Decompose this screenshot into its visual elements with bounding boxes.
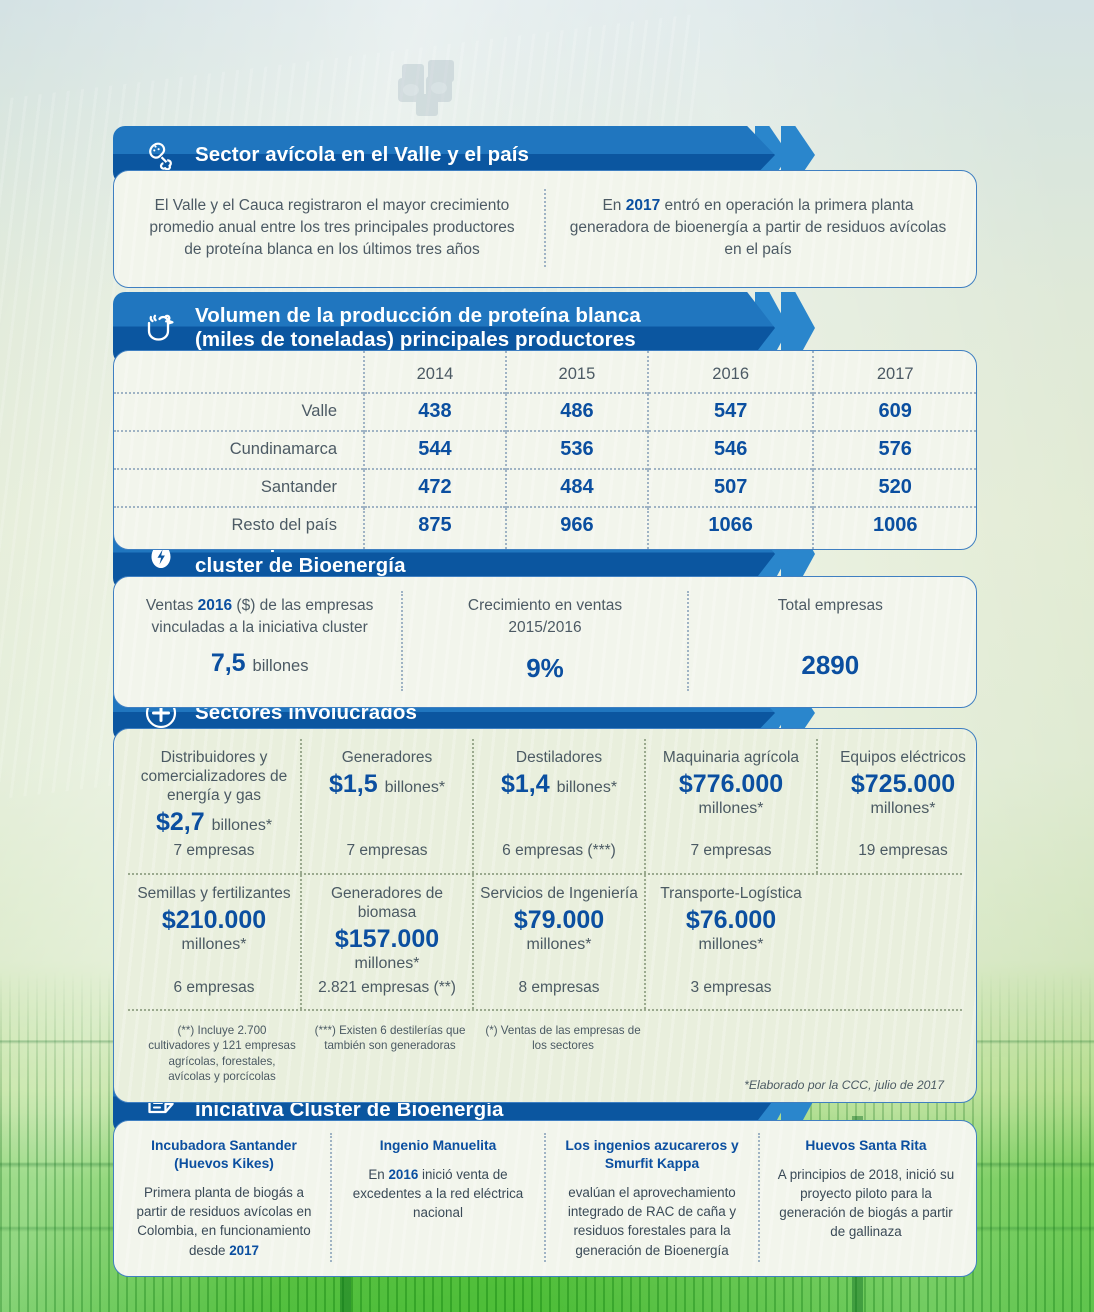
footnote: (**) Incluye 2.700 cultivadores y 121 em… <box>138 1017 306 1093</box>
sector-label: Generadores <box>342 749 432 768</box>
row-label: Resto del país <box>114 507 364 549</box>
sector-cell-empty <box>816 875 977 1009</box>
stat-crecimiento-value: 9% <box>419 650 670 686</box>
project-title: Ingenio Manuelita <box>346 1137 530 1155</box>
sector-label: Generadores de biomasa <box>308 885 466 923</box>
sector-companies: 19 empresas <box>858 836 948 861</box>
text-pre: evalúan el aprovechamiento integrado de … <box>568 1185 736 1257</box>
th-2016: 2016 <box>648 351 814 393</box>
stat-total-label: Total empresas <box>705 595 956 617</box>
sector-cell: Generadores $1,5 billones* 7 empresas <box>300 739 472 873</box>
sector-unit: millones* <box>699 935 764 954</box>
sector-companies: 7 empresas <box>347 836 428 861</box>
table-row: Resto del país 875 966 1066 1006 <box>114 507 976 549</box>
project-text: Primera planta de biogás a partir de res… <box>132 1183 316 1259</box>
source-credit: *Elaborado por la CCC, julio de 2017 <box>744 1078 944 1092</box>
section-body-card: El Valle y el Cauca registraron el mayor… <box>113 170 977 288</box>
amount-value: $2,7 <box>156 808 205 836</box>
cell-2015: 536 <box>506 431 648 469</box>
volume-table-wrap: 2014 2015 2016 2017 Valle 438 486 547 60 <box>114 351 976 549</box>
sector-unit: millones* <box>182 935 247 954</box>
sector-amount: $79.000 <box>514 906 604 935</box>
row-label: Valle <box>114 393 364 431</box>
table-header-row: 2014 2015 2016 2017 <box>114 351 976 393</box>
table-row: Cundinamarca 544 536 546 576 <box>114 431 976 469</box>
project-title: Huevos Santa Rita <box>774 1137 958 1155</box>
amount-unit: billones* <box>385 779 445 796</box>
table-row: Valle 438 486 547 609 <box>114 393 976 431</box>
chicken-drumstick-icon <box>141 135 181 175</box>
sector-label: Destiladores <box>516 749 602 768</box>
sector-companies: 7 empresas <box>174 836 255 861</box>
cell-2016: 507 <box>648 469 814 507</box>
cell-2016: 1066 <box>648 507 814 549</box>
stat-ventas: Ventas 2016 ($) de las empresas vinculad… <box>118 591 401 691</box>
amount-unit: billones* <box>212 817 272 834</box>
project-card: Incubadora Santander (Huevos Kikes) Prim… <box>118 1133 330 1262</box>
amount-value: $1,4 <box>501 770 550 798</box>
hen-icon <box>141 308 181 348</box>
amount-unit: billones* <box>557 779 617 796</box>
project-card: Huevos Santa Rita A principios de 2018, … <box>758 1133 972 1262</box>
red-empresarial-stats: Ventas 2016 ($) de las empresas vinculad… <box>114 577 976 707</box>
infographic-page: Sector avícola en el Valle y el país El … <box>0 0 1094 1312</box>
sector-unit: millones* <box>355 954 420 973</box>
project-title: Los ingenios azucareros y Smurfit Kappa <box>560 1137 744 1173</box>
sector-cell: Equipos eléctricos $725.000 millones* 19… <box>816 739 977 873</box>
sector-amount: $2,7 billones* <box>156 808 272 837</box>
sectores-row-1: Distribuidores y comercializadores de en… <box>128 739 962 875</box>
cell-2014: 438 <box>364 393 506 431</box>
row-label: Santander <box>114 469 364 507</box>
unit: billones <box>253 657 309 675</box>
sector-cell: Distribuidores y comercializadores de en… <box>128 739 300 873</box>
section-volumen-produccion: Volumen de la producción de proteína bla… <box>113 292 977 550</box>
cell-2014: 544 <box>364 431 506 469</box>
sector-amount: $725.000 <box>851 770 955 799</box>
sectores-grid: Distribuidores y comercializadores de en… <box>114 729 976 1102</box>
project-text: En 2016 inició venta de excedentes a la … <box>346 1165 530 1222</box>
cell-2016: 547 <box>648 393 814 431</box>
sector-label: Distribuidores y comercializadores de en… <box>134 749 294 806</box>
highlight-year: 2017 <box>626 197 660 214</box>
sector-label: Servicios de Ingeniería <box>480 885 638 904</box>
section-body-card: 2014 2015 2016 2017 Valle 438 486 547 60 <box>113 350 977 550</box>
sector-amount: $210.000 <box>162 906 266 935</box>
sector-amount: $1,4 billones* <box>501 770 617 799</box>
sector-amount: $157.000 <box>335 925 439 954</box>
sector-label: Maquinaria agrícola <box>663 749 799 768</box>
table-head: 2014 2015 2016 2017 <box>114 351 976 393</box>
sector-label: Equipos eléctricos <box>840 749 966 768</box>
label-pre: Ventas <box>146 597 198 614</box>
section-body-card: Distribuidores y comercializadores de en… <box>113 728 977 1103</box>
project-text: evalúan el aprovechamiento integrado de … <box>560 1183 744 1259</box>
th-2014: 2014 <box>364 351 506 393</box>
sector-cell: Servicios de Ingeniería $79.000 millones… <box>472 875 644 1009</box>
sector-companies: 8 empresas <box>519 973 600 998</box>
text-pre: Primera planta de biogás a partir de res… <box>137 1185 312 1257</box>
project-title: Incubadora Santander (Huevos Kikes) <box>132 1137 316 1173</box>
project-card: Los ingenios azucareros y Smurfit Kappa … <box>544 1133 758 1262</box>
stat-total-value: 2890 <box>705 647 956 683</box>
highlight-year: 2017 <box>229 1243 259 1258</box>
sector-unit: millones* <box>699 799 764 818</box>
section-title: Volumen de la producción de proteína bla… <box>195 304 641 352</box>
stat-crecimiento: Crecimiento en ventas 2015/2016 9% <box>401 591 686 691</box>
sectores-row-2: Semillas y fertilizantes $210.000 millon… <box>128 875 962 1011</box>
cell-2015: 966 <box>506 507 648 549</box>
section-body-card: Ventas 2016 ($) de las empresas vinculad… <box>113 576 977 708</box>
cell-2014: 472 <box>364 469 506 507</box>
sector-label: Transporte-Logística <box>660 885 802 904</box>
sector-unit: millones* <box>871 799 936 818</box>
sector-companies: 2.821 empresas (**) <box>318 973 456 998</box>
sector-companies: 6 empresas (***) <box>502 836 616 861</box>
cell-2017: 576 <box>813 431 976 469</box>
section-sector-avicola: Sector avícola en el Valle y el país El … <box>113 126 977 288</box>
production-table: 2014 2015 2016 2017 Valle 438 486 547 60 <box>114 351 976 549</box>
amount-value: $1,5 <box>329 770 378 798</box>
stat-crecimiento-label: Crecimiento en ventas 2015/2016 <box>419 595 670 638</box>
text-pre: En <box>368 1167 388 1182</box>
text-pre: En <box>602 197 625 214</box>
two-column-text: El Valle y el Cauca registraron el mayor… <box>114 171 976 287</box>
text-column-left: El Valle y el Cauca registraron el mayor… <box>120 189 544 267</box>
row-label: Cundinamarca <box>114 431 364 469</box>
th-2017: 2017 <box>813 351 976 393</box>
cell-2015: 484 <box>506 469 648 507</box>
sector-amount: $776.000 <box>679 770 783 799</box>
sector-amount: $76.000 <box>686 906 776 935</box>
stat-total-empresas: Total empresas 2890 <box>687 591 972 691</box>
sectores-footnotes: (**) Incluye 2.700 cultivadores y 121 em… <box>128 1011 962 1097</box>
stat-ventas-label: Ventas 2016 ($) de las empresas vinculad… <box>134 595 385 638</box>
value: 7,5 <box>211 649 246 677</box>
sector-companies: 3 empresas <box>691 973 772 998</box>
proyectos-row: Incubadora Santander (Huevos Kikes) Prim… <box>114 1121 976 1276</box>
project-text: A principios de 2018, inició su proyecto… <box>774 1165 958 1241</box>
cell-2017: 520 <box>813 469 976 507</box>
th-2015: 2015 <box>506 351 648 393</box>
cell-2017: 609 <box>813 393 976 431</box>
project-card: Ingenio Manuelita En 2016 inició venta d… <box>330 1133 544 1262</box>
sector-label: Semillas y fertilizantes <box>137 885 290 904</box>
sector-cell: Transporte-Logística $76.000 millones* 3… <box>644 875 816 1009</box>
text-pre: A principios de 2018, inició su proyecto… <box>778 1167 954 1239</box>
table-body: Valle 438 486 547 609 Cundinamarca 544 5… <box>114 393 976 549</box>
stat-ventas-value: 7,5 billones <box>134 646 385 681</box>
sector-cell: Generadores de biomasa $157.000 millones… <box>300 875 472 1009</box>
cell-2014: 875 <box>364 507 506 549</box>
cell-2017: 1006 <box>813 507 976 549</box>
sector-companies: 6 empresas <box>174 973 255 998</box>
sector-unit: millones* <box>527 935 592 954</box>
text-column-right: En 2017 entró en operación la primera pl… <box>544 189 970 267</box>
th-blank <box>114 351 364 393</box>
sector-amount: $1,5 billones* <box>329 770 445 799</box>
sector-cell: Semillas y fertilizantes $210.000 millon… <box>128 875 300 1009</box>
sector-cell: Destiladores $1,4 billones* 6 empresas (… <box>472 739 644 873</box>
footnote: (*) Ventas de las empresas de los sector… <box>474 1017 652 1093</box>
section-body-card: Incubadora Santander (Huevos Kikes) Prim… <box>113 1120 977 1277</box>
cell-2016: 546 <box>648 431 814 469</box>
sector-companies: 7 empresas <box>691 836 772 861</box>
footnote: (***) Existen 6 destilerías que también … <box>306 1017 474 1093</box>
highlight-year: 2016 <box>198 597 232 614</box>
section-sectores-involucrados: Sectores involucrados Distribuidores y c… <box>113 684 977 1103</box>
cell-2015: 486 <box>506 393 648 431</box>
sector-cell: Maquinaria agrícola $776.000 millones* 7… <box>644 739 816 873</box>
highlight-year: 2016 <box>388 1167 418 1182</box>
table-row: Santander 472 484 507 520 <box>114 469 976 507</box>
section-title: Sector avícola en el Valle y el país <box>195 143 529 167</box>
